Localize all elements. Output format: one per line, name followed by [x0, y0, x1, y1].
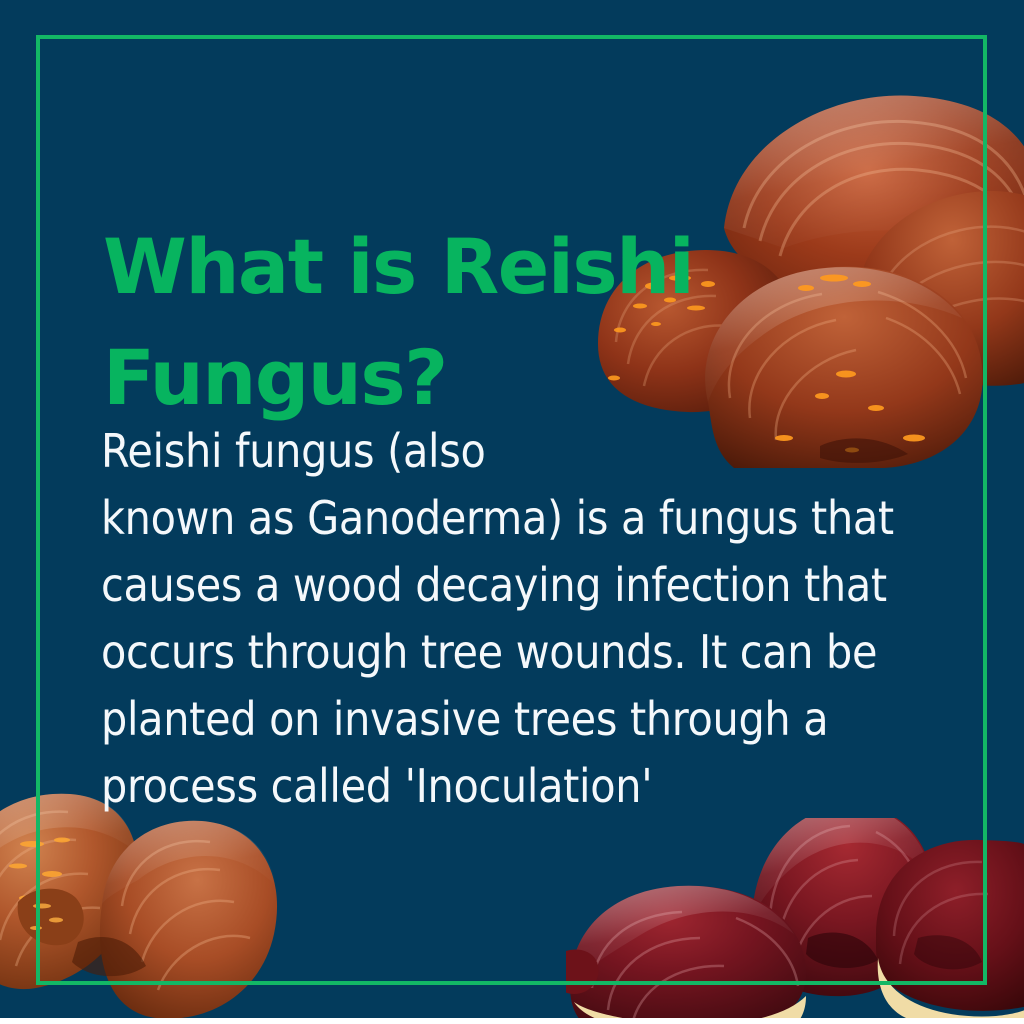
infographic-canvas: What is Reishi Fungus? Reishi fungus (al…	[0, 0, 1024, 1024]
body-line-5: planted on invasive trees through a	[101, 686, 931, 753]
body-paragraph: Reishi fungus (also known as Ganoderma) …	[101, 418, 931, 820]
body-line-3: causes a wood decaying infection that	[101, 552, 931, 619]
bottom-white-strip	[0, 1018, 1024, 1024]
body-line-6: process called 'Inoculation'	[101, 753, 931, 820]
page-title-line-1: What is Reishi	[103, 211, 723, 322]
body-line-2: known as Ganoderma) is a fungus that	[101, 485, 931, 552]
reishi-mushroom-cluster-bottom-right	[566, 818, 1024, 1024]
page-title: What is Reishi Fungus?	[103, 211, 723, 433]
page-title-line-2: Fungus?	[103, 322, 723, 433]
body-line-1: Reishi fungus (also	[101, 418, 931, 485]
body-line-4: occurs through tree wounds. It can be	[101, 619, 931, 686]
